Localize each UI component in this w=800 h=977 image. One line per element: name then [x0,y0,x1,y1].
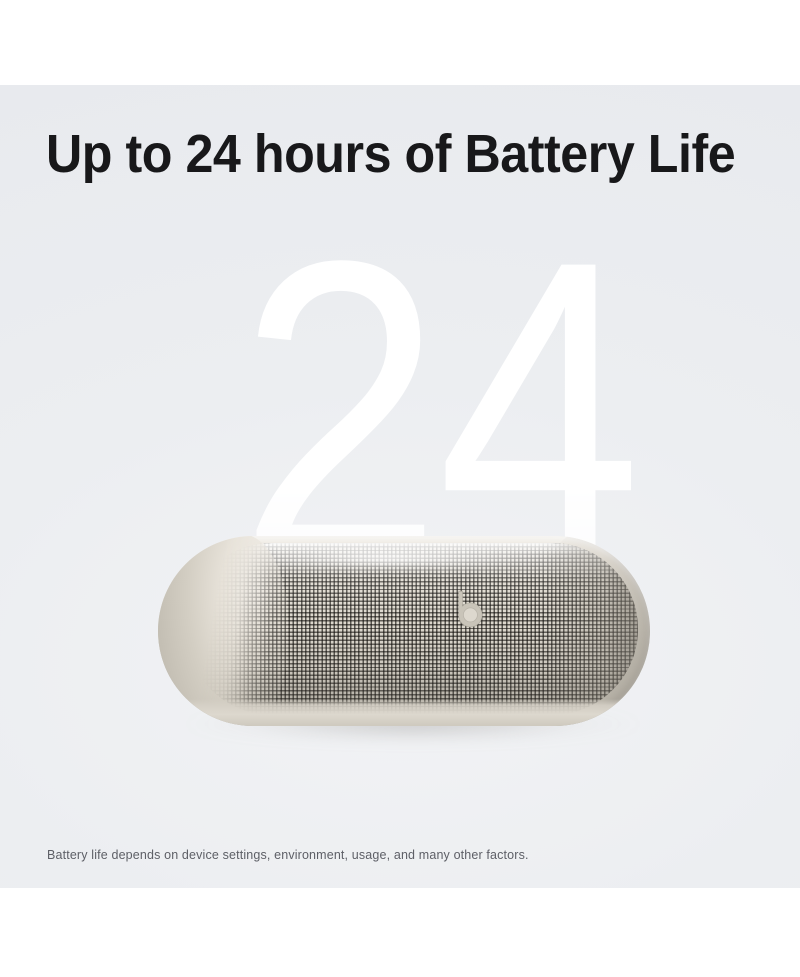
hero-card-background [0,85,800,888]
product-image-beats-pill [158,536,650,732]
speaker-end-cap-right [542,536,650,726]
speaker-end-cap-left [158,536,288,726]
marketing-hero-image: Up to 24 hours of Battery Life 24 [0,0,800,977]
speaker-base-strip [180,699,630,726]
speaker-body [158,536,650,726]
beats-b-logo-icon [454,590,484,632]
legal-footnote: Battery life depends on device settings,… [47,847,529,863]
page-title: Up to 24 hours of Battery Life [46,124,697,184]
